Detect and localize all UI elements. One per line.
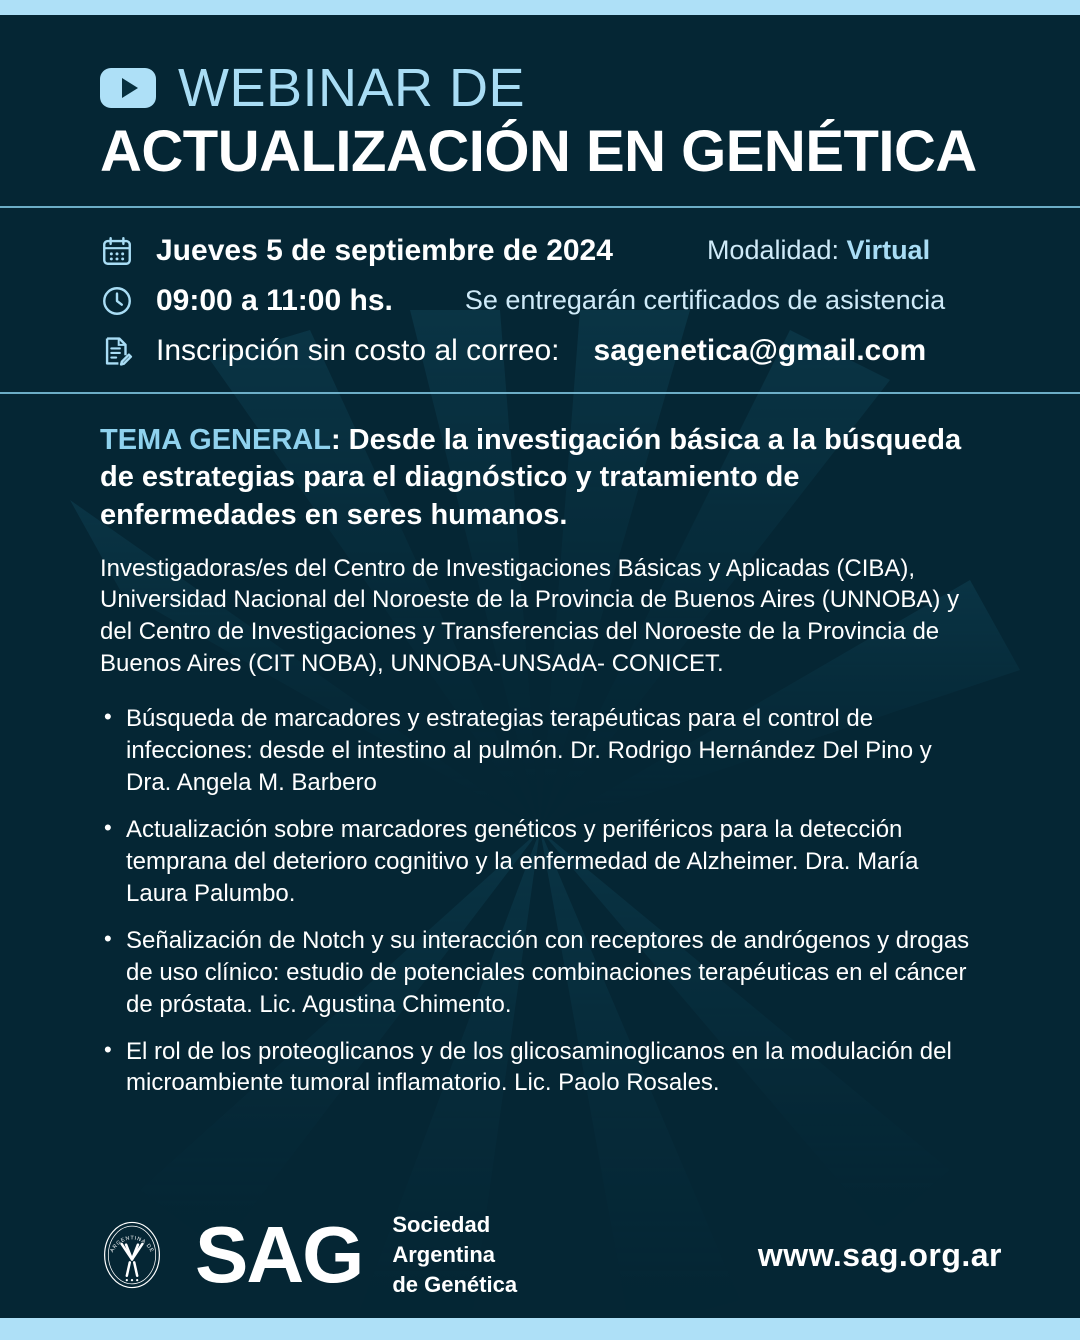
event-info-block: Jueves 5 de septiembre de 2024 Modalidad… xyxy=(0,208,1080,392)
org-line-2: Argentina xyxy=(392,1242,495,1267)
poster-root: WEBINAR DE ACTUALIZACIÓN EN GENÉTICA xyxy=(0,0,1080,1340)
list-item: Búsqueda de marcadores y estrategias ter… xyxy=(100,703,980,799)
general-topic: TEMA GENERAL: Desde la investigación bás… xyxy=(100,422,980,535)
info-row-registration: Inscripción sin costo al correo: sagenet… xyxy=(100,334,1020,368)
info-row-date: Jueves 5 de septiembre de 2024 Modalidad… xyxy=(100,234,1020,268)
sag-seal-icon: SOCIEDAD ARGENTINA DE GENETICA xyxy=(95,1218,169,1292)
general-topic-label: TEMA GENERAL xyxy=(100,424,331,456)
info-row-time: 09:00 a 11:00 hs. Se entregarán certific… xyxy=(100,284,1020,318)
list-item: El rol de los proteoglicanos y de los gl… xyxy=(100,1036,980,1100)
clock-icon xyxy=(100,284,134,318)
divider-bottom xyxy=(0,392,1080,394)
registration-text: Inscripción sin costo al correo: xyxy=(156,334,560,368)
play-button-icon xyxy=(100,68,156,108)
org-line-1: Sociedad xyxy=(392,1212,490,1237)
list-item: Actualización sobre marcadores genéticos… xyxy=(100,814,980,910)
talks-list: Búsqueda de marcadores y estrategias ter… xyxy=(100,703,980,1099)
poster-footer: SOCIEDAD ARGENTINA DE GENETICA xyxy=(0,1196,1080,1318)
divider-top xyxy=(0,206,1080,208)
list-item: Señalización de Notch y su interacción c… xyxy=(100,925,980,1021)
header-kicker-row: WEBINAR DE xyxy=(100,61,1020,115)
top-accent-bar xyxy=(0,0,1080,15)
modality-label: Modalidad: xyxy=(707,235,839,265)
org-line-3: de Genética xyxy=(392,1272,517,1297)
registration-email[interactable]: sagenetica@gmail.com xyxy=(594,334,927,368)
event-time: 09:00 a 11:00 hs. xyxy=(156,284,393,318)
poster-content: WEBINAR DE ACTUALIZACIÓN EN GENÉTICA xyxy=(0,15,1080,1318)
header-kicker-text: WEBINAR DE xyxy=(178,61,525,115)
poster-body: TEMA GENERAL: Desde la investigación bás… xyxy=(0,394,1080,1197)
event-modality: Modalidad: Virtual xyxy=(707,235,930,266)
page-title: ACTUALIZACIÓN EN GENÉTICA xyxy=(100,121,1020,184)
event-date: Jueves 5 de septiembre de 2024 xyxy=(156,234,613,268)
document-edit-icon xyxy=(100,334,134,368)
website-url[interactable]: www.sag.org.ar xyxy=(758,1237,1020,1274)
sag-logo-wordmark: SAG xyxy=(195,1218,362,1292)
certificates-note: Se entregarán certificados de asistencia xyxy=(465,285,945,316)
poster-header: WEBINAR DE ACTUALIZACIÓN EN GENÉTICA xyxy=(0,15,1080,206)
bottom-accent-bar xyxy=(0,1318,1080,1340)
calendar-icon xyxy=(100,234,134,268)
organization-name: Sociedad Argentina de Genética xyxy=(392,1210,517,1300)
modality-value: Virtual xyxy=(847,235,931,265)
affiliation-paragraph: Investigadoras/es del Centro de Investig… xyxy=(100,553,980,680)
